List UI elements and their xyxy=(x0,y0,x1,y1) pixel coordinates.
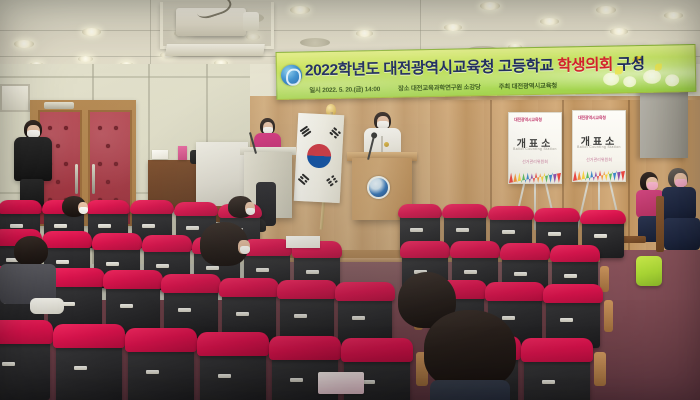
banner-title-highlight: 학생의회 xyxy=(557,53,613,76)
ceiling-downlight xyxy=(664,12,683,19)
banner-place-value: 대전교육과학연구원 소강당 xyxy=(411,84,481,92)
banner-datetime-label: 일시 xyxy=(309,87,320,94)
ceiling-downlight xyxy=(596,6,616,14)
podium-emblem-icon xyxy=(367,176,390,199)
person-audience-foreground xyxy=(424,310,520,400)
desk-folder xyxy=(178,146,187,160)
person-seated-guest-2 xyxy=(662,168,700,250)
door-handle[interactable] xyxy=(75,164,78,194)
papers-on-seat xyxy=(286,236,320,248)
ceiling-downlight xyxy=(78,56,93,62)
door-closer xyxy=(44,102,74,109)
banner-host-label: 주최 xyxy=(499,83,510,90)
seat[interactable] xyxy=(56,334,122,400)
education-office-logo-icon xyxy=(281,65,302,86)
torso xyxy=(14,137,52,181)
banner-datetime: 일시 2022. 5. 20.(금) 14:00 xyxy=(309,84,380,94)
door-handle[interactable] xyxy=(92,164,95,194)
board-mark-text: 선거관리위원회 xyxy=(573,157,625,163)
shoe xyxy=(30,298,64,314)
banner-datetime-value: 2022. 5. 20.(금) 14:00 xyxy=(322,86,380,94)
torso xyxy=(662,187,696,221)
auditorium-photo: 2022학년도 대전광역시교육청 고등학교 학생의회 구성 일시 2022. 5… xyxy=(0,0,700,400)
board-triangle-pattern xyxy=(573,168,625,181)
projector-lens xyxy=(243,12,259,31)
banner-host-value: 대전광역시교육청 xyxy=(512,82,558,90)
taegukgi-flag xyxy=(294,113,345,203)
event-banner: 2022학년도 대전광역시교육청 고등학교 학생의회 구성 일시 2022. 5… xyxy=(276,44,697,100)
projector-ceiling-plate xyxy=(165,44,265,56)
banner-title-part2: 구성 xyxy=(617,52,645,75)
banner-title-part1: 2022학년도 대전광역시교육청 고등학교 xyxy=(305,54,554,81)
banner-place: 장소 대전교육과학연구원 소강당 xyxy=(398,82,481,93)
ballot-station-board: 대전광역시교육청 개표소 Ballot Counting Station 선거관… xyxy=(572,110,626,182)
face-mask xyxy=(675,179,687,187)
ceiling-downlight xyxy=(480,2,500,10)
board-subtitle: Ballot Counting Station xyxy=(573,145,625,149)
ceiling-downlight xyxy=(14,40,34,48)
person-audience xyxy=(62,196,90,218)
head xyxy=(14,236,48,266)
leaflet-on-seat xyxy=(318,372,364,394)
person-audience xyxy=(228,196,258,218)
banner-place-label: 장소 xyxy=(398,85,409,92)
trigram-li xyxy=(297,173,310,186)
trigram-gon xyxy=(326,175,339,188)
taeguk-circle xyxy=(306,143,331,168)
shoulders xyxy=(430,380,510,400)
lap xyxy=(664,218,700,250)
head xyxy=(424,310,516,388)
ceiling-downlight xyxy=(540,18,559,25)
ceiling-downlight xyxy=(610,28,628,35)
face-mask xyxy=(79,207,88,214)
ceiling-vent xyxy=(300,38,330,47)
board-subtitle: Ballot Counting Station xyxy=(509,147,561,151)
face-mask xyxy=(246,208,255,215)
face-mask xyxy=(647,182,658,190)
trigram-gam xyxy=(328,127,341,140)
guest-chair-arm xyxy=(656,196,664,252)
green-tote-bag xyxy=(636,256,662,286)
banner-host: 주최 대전광역시교육청 xyxy=(499,80,558,90)
face-mask xyxy=(240,246,250,254)
high-window xyxy=(0,84,30,112)
seat-armrest xyxy=(604,300,613,332)
board-triangle-pattern xyxy=(509,170,561,183)
seat[interactable] xyxy=(524,348,590,400)
ceiling-downlight xyxy=(444,24,462,31)
ceiling-downlight xyxy=(356,30,373,37)
seat[interactable] xyxy=(128,338,194,400)
name-badge xyxy=(384,142,389,147)
board-logo-text: 대전광역시교육청 xyxy=(514,117,542,123)
seat[interactable] xyxy=(200,342,266,400)
board-logo-text: 대전광역시교육청 xyxy=(578,115,606,121)
person-audience-front xyxy=(200,222,250,272)
person-standing-staff xyxy=(14,120,52,212)
ceiling-downlight xyxy=(290,6,310,14)
desk-papers xyxy=(152,150,168,159)
board-mark-text: 선거관리위원회 xyxy=(509,159,561,165)
seat[interactable] xyxy=(0,330,50,400)
person-audience-left xyxy=(0,236,60,316)
trigram-geon xyxy=(300,126,313,139)
seat-armrest xyxy=(594,352,606,386)
ballot-station-board: 대전광역시교육청 개표소 Ballot Counting Station 선거관… xyxy=(508,112,562,184)
ceiling-downlight xyxy=(82,28,101,36)
